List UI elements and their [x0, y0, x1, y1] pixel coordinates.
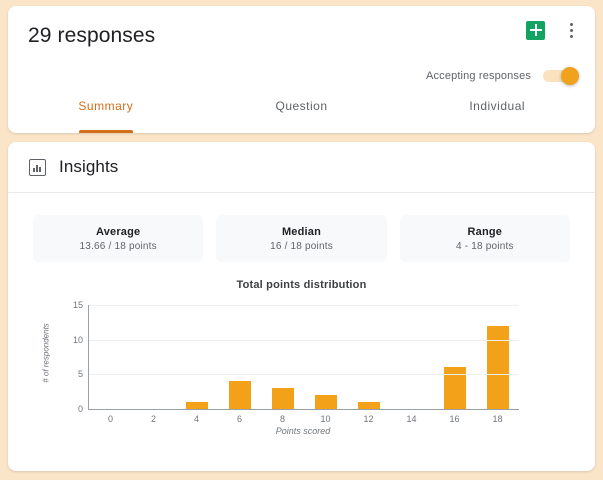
accepting-responses-row: Accepting responses [426, 69, 577, 83]
chart-bar[interactable] [186, 402, 208, 409]
chart-y-tick: 10 [73, 335, 83, 345]
chart-gridline [89, 374, 519, 375]
responses-page: 29 responses Accepting responses Summary… [0, 0, 603, 480]
stat-card-range: Range 4 - 18 points [400, 215, 570, 262]
stat-label: Range [468, 226, 503, 238]
stat-value: 4 - 18 points [456, 241, 514, 252]
chart-gridline [89, 305, 519, 306]
chart-bar[interactable] [315, 395, 337, 409]
insights-title: Insights [59, 157, 118, 177]
tab-individual[interactable]: Individual [399, 96, 595, 133]
chart-x-tick: 12 [363, 414, 373, 424]
chart-plot-area: 051015024681012141618 [88, 305, 519, 410]
stats-row: Average 13.66 / 18 points Median 16 / 18… [8, 193, 595, 262]
chart-bar[interactable] [229, 381, 251, 409]
responses-header-card: 29 responses Accepting responses Summary… [8, 6, 595, 133]
accepting-responses-label: Accepting responses [426, 70, 531, 82]
stat-label: Average [96, 226, 140, 238]
chart-x-tick: 14 [406, 414, 416, 424]
page-title: 29 responses [28, 22, 155, 50]
google-sheets-icon[interactable] [526, 21, 545, 40]
tab-question[interactable]: Question [204, 96, 400, 133]
response-tabs: Summary Question Individual [8, 96, 595, 133]
chart-y-tick: 0 [78, 404, 83, 414]
chart-y-axis-label: # of respondents [42, 323, 51, 383]
toggle-knob [561, 67, 579, 85]
chart-x-axis-label: Points scored [276, 426, 331, 436]
stat-label: Median [282, 226, 321, 238]
chart-x-tick: 18 [492, 414, 502, 424]
bar-chart-icon [29, 159, 46, 176]
chart-x-tick: 10 [320, 414, 330, 424]
insights-card: Insights Average 13.66 / 18 points Media… [8, 142, 595, 471]
stat-value: 16 / 18 points [270, 241, 333, 252]
stat-card-average: Average 13.66 / 18 points [33, 215, 203, 262]
chart-bars [89, 305, 519, 409]
chart-title: Total points distribution [8, 279, 595, 291]
chart-x-tick: 16 [449, 414, 459, 424]
total-points-distribution-chart: Total points distribution # of responden… [8, 279, 595, 454]
header-actions [526, 20, 579, 40]
chart-x-tick: 4 [194, 414, 199, 424]
tab-summary-label: Summary [78, 99, 133, 113]
chart-y-tick: 15 [73, 300, 83, 310]
stat-card-median: Median 16 / 18 points [216, 215, 386, 262]
chart-area: # of respondents 051015024681012141618 P… [8, 301, 595, 436]
insights-header: Insights [8, 142, 595, 193]
tab-question-label: Question [275, 99, 327, 113]
more-vert-icon[interactable] [563, 20, 579, 40]
chart-y-tick: 5 [78, 369, 83, 379]
chart-x-tick: 2 [151, 414, 156, 424]
chart-gridline [89, 340, 519, 341]
stat-value: 13.66 / 18 points [79, 241, 156, 252]
tab-individual-label: Individual [469, 99, 525, 113]
chart-x-tick: 6 [237, 414, 242, 424]
tab-summary[interactable]: Summary [8, 96, 204, 133]
chart-bar[interactable] [358, 402, 380, 409]
chart-x-tick: 8 [280, 414, 285, 424]
chart-x-tick: 0 [108, 414, 113, 424]
chart-bar[interactable] [487, 326, 509, 409]
accepting-responses-toggle[interactable] [543, 69, 577, 83]
chart-bar[interactable] [272, 388, 294, 409]
